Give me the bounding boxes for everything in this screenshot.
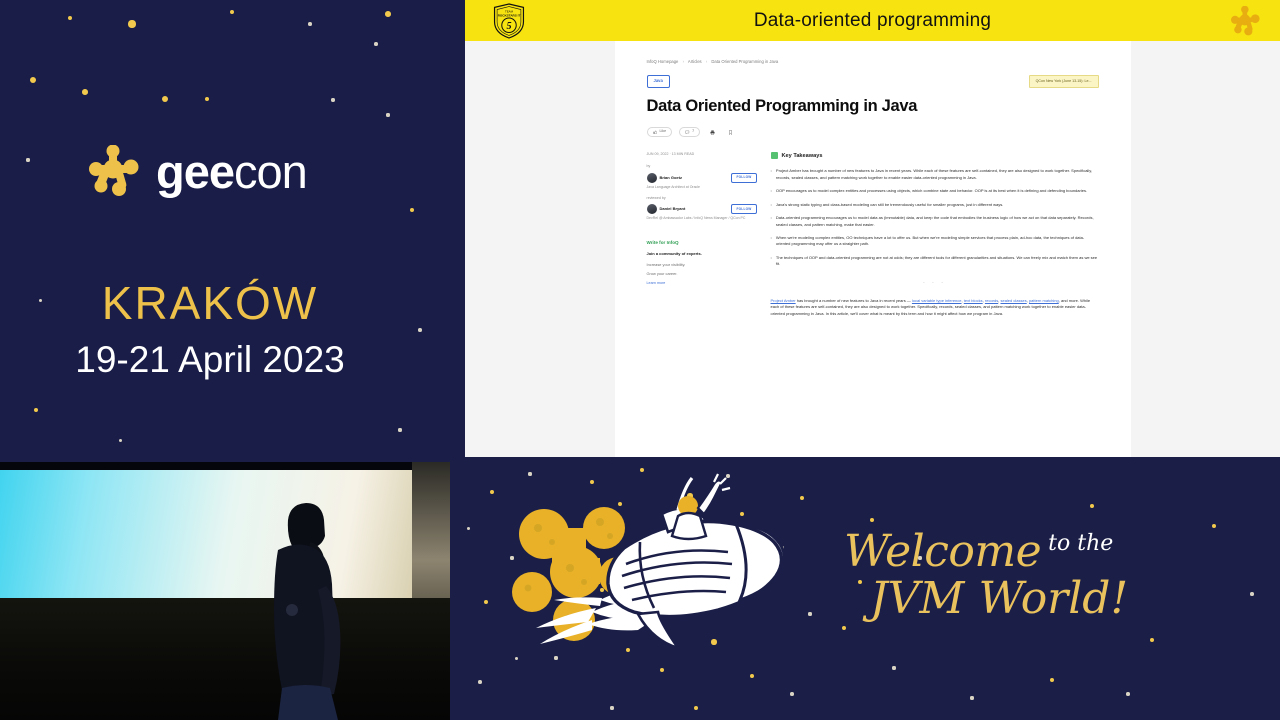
star-dot <box>870 518 874 522</box>
byline-label: by <box>647 164 757 170</box>
article-sidebar: JUN 09, 2022 · 13 MIN READ by Brian Goet… <box>647 152 757 318</box>
lede-text: has brought a number of new features to … <box>796 298 912 303</box>
geecon-molecule-icon <box>1230 6 1262 36</box>
geecon-molecule-icon <box>88 145 142 197</box>
event-dates: 19-21 April 2023 <box>0 338 420 382</box>
breadcrumb-item-current: Data Oriented Programming in Java <box>711 59 778 64</box>
key-takeaways-title: Key Takeaways <box>782 152 823 161</box>
broadcast-layout: geecon KRAKÓW 19-21 April 2023 TEAM ROCK… <box>0 0 1280 720</box>
welcome-line-1: Welcometo the <box>844 530 1134 575</box>
star-dot <box>398 428 401 431</box>
star-dot <box>410 208 414 212</box>
star-dot <box>1212 524 1216 528</box>
jvm-world-word: JVM World! <box>870 577 1128 622</box>
star-dot <box>308 22 312 26</box>
lede-paragraph: Project Amber has brought a number of ne… <box>771 298 1099 318</box>
geecon-logo-lockup: geecon <box>88 145 307 197</box>
follow-button[interactable]: FOLLOW <box>731 204 756 214</box>
breadcrumb-item-articles[interactable]: Articles <box>688 59 702 64</box>
bullet-icon: • <box>771 215 772 228</box>
star-dot <box>694 706 698 710</box>
star-dot <box>418 328 422 332</box>
star-dot <box>1126 692 1130 696</box>
write-for-infoq-heading: Write for InfoQ <box>647 239 757 246</box>
star-dot <box>82 89 88 95</box>
article-action-bar: Like 7 <box>647 127 1099 138</box>
inline-link[interactable]: sealed classes <box>1000 298 1026 303</box>
comment-button[interactable]: 7 <box>679 127 700 137</box>
star-dot <box>205 97 209 101</box>
rocket-with-rider-icon <box>492 472 822 687</box>
author-row[interactable]: Brian Goetz FOLLOW <box>647 173 757 183</box>
article-main-column: Key Takeaways •Project Amber has brought… <box>771 152 1099 318</box>
print-button[interactable] <box>707 127 718 138</box>
welcome-line-2: JVM World! <box>844 575 1134 622</box>
star-dot <box>30 77 37 84</box>
bullet-icon: • <box>771 235 772 248</box>
print-icon <box>710 130 715 135</box>
inline-link[interactable]: text blocks <box>964 298 983 303</box>
star-dot <box>892 666 895 669</box>
badge-mid-text: ROCKSTARS IT <box>498 14 521 18</box>
welcome-message: Welcometo the JVM World! <box>844 530 1134 622</box>
bullet-icon: • <box>771 168 772 181</box>
inline-link[interactable]: local variable type inference <box>912 298 962 303</box>
city-name: KRAKÓW <box>0 280 420 326</box>
avatar <box>647 173 657 183</box>
reviewed-label: reviewed by <box>647 196 757 202</box>
article-body: JUN 09, 2022 · 13 MIN READ by Brian Goet… <box>647 152 1099 318</box>
write-for-infoq-line: Increase your visibility. <box>647 262 757 268</box>
comment-count: 7 <box>692 129 694 135</box>
browser-article-viewport[interactable]: InfoQ Homepage › Articles › Data Oriente… <box>465 41 1280 457</box>
star-dot <box>230 10 235 15</box>
write-for-infoq-lead: Join a community of experts. <box>647 251 757 257</box>
thumbs-up-icon <box>653 130 658 135</box>
like-label: Like <box>660 129 667 135</box>
star-dot <box>162 96 168 102</box>
star-dot <box>1090 504 1094 508</box>
to-the-word: to the <box>1048 533 1113 555</box>
star-dot <box>26 158 29 161</box>
publish-meta: JUN 09, 2022 · 13 MIN READ <box>647 152 757 158</box>
key-takeaway-text: The techniques of OOP and data-oriented … <box>776 255 1099 268</box>
star-dot <box>385 11 391 17</box>
star-dot <box>1150 638 1155 643</box>
key-takeaway-text: Java's strong static typing and class-ba… <box>776 202 1003 208</box>
breadcrumb-separator: › <box>683 59 684 64</box>
inline-link[interactable]: records <box>985 298 998 303</box>
author-title: Java Language Architect at Oracle <box>647 185 757 190</box>
star-dot <box>331 98 334 101</box>
section-divider: · · · <box>771 280 1099 288</box>
follow-button[interactable]: FOLLOW <box>731 173 756 183</box>
star-dot <box>790 692 794 696</box>
key-takeaways-header: Key Takeaways <box>771 152 1099 161</box>
author-row[interactable]: Daniel Bryant FOLLOW <box>647 204 757 214</box>
star-dot <box>484 600 488 604</box>
badge-top-text: TEAM <box>505 10 514 14</box>
welcome-word: Welcome <box>844 526 1041 577</box>
key-takeaway-item: •Project Amber has brought a number of n… <box>771 168 1099 181</box>
key-takeaway-item: •Java's strong static typing and class-b… <box>771 202 1099 208</box>
article-title: Data Oriented Programming in Java <box>647 97 1099 115</box>
svg-text:5: 5 <box>506 21 511 32</box>
wordmark-bold: gee <box>156 145 234 198</box>
star-dot <box>1050 678 1054 682</box>
star-dot <box>68 16 73 21</box>
key-takeaways-icon <box>771 152 778 159</box>
breadcrumb-item-home[interactable]: InfoQ Homepage <box>647 59 679 64</box>
star-dot <box>1250 592 1254 596</box>
star-dot <box>386 113 389 116</box>
slide-title: Data-oriented programming <box>754 10 991 32</box>
promo-banner[interactable]: QCon New York (June 13-15): Le... <box>1029 75 1099 89</box>
comment-icon <box>685 130 690 135</box>
bullet-icon: • <box>771 255 772 268</box>
breadcrumb-separator: › <box>706 59 707 64</box>
bookmark-button[interactable] <box>725 127 736 138</box>
star-dot <box>842 626 847 631</box>
inline-link[interactable]: Project Amber <box>771 298 796 303</box>
like-button[interactable]: Like <box>647 127 673 137</box>
wordmark-light: con <box>234 145 307 198</box>
rocket-artwork-panel: Welcometo the JVM World! <box>452 462 1280 720</box>
bullet-icon: • <box>771 188 772 194</box>
write-for-infoq-block: Write for InfoQ Join a community of expe… <box>647 239 757 286</box>
key-takeaway-item: •OOP encourages us to model complex enti… <box>771 188 1099 194</box>
topic-tag[interactable]: Java <box>647 75 670 88</box>
star-dot <box>119 439 122 442</box>
author-name[interactable]: Daniel Bryant <box>660 206 729 212</box>
key-takeaway-text: When we're modeling complex entities, OO… <box>776 235 1099 248</box>
key-takeaway-text: Project Amber has brought a number of ne… <box>776 168 1099 181</box>
star-dot <box>610 706 613 709</box>
key-takeaway-item: •The techniques of OOP and data-oriented… <box>771 255 1099 268</box>
presentation-slide-panel: TEAM ROCKSTARS IT 5 Data-oriented progra… <box>465 0 1280 457</box>
speaker-figure <box>248 490 358 720</box>
avatar <box>647 204 657 214</box>
star-dot <box>970 696 973 699</box>
speaker-camera-panel <box>0 462 450 720</box>
star-dot <box>478 680 482 684</box>
write-for-infoq-line: Grow your career. <box>647 271 757 277</box>
key-takeaways-list: •Project Amber has brought a number of n… <box>771 168 1099 268</box>
team-rockstars-it-shield-icon: TEAM ROCKSTARS IT 5 <box>492 3 526 39</box>
star-dot <box>128 20 135 27</box>
tag-and-promo-row: Java QCon New York (June 13-15): Le... <box>647 75 1099 89</box>
key-takeaway-item: •Data-oriented programming encourages us… <box>771 215 1099 228</box>
author-title: DevRel @ Ambassador Labs / InfoQ News Ma… <box>647 216 757 221</box>
infoq-article-page: InfoQ Homepage › Articles › Data Oriente… <box>615 41 1131 457</box>
key-takeaway-item: •When we're modeling complex entities, O… <box>771 235 1099 248</box>
bullet-icon: • <box>771 202 772 208</box>
key-takeaway-text: OOP encourages us to model complex entit… <box>776 188 1087 194</box>
bookmark-icon <box>728 130 733 135</box>
breadcrumb[interactable]: InfoQ Homepage › Articles › Data Oriente… <box>647 59 1099 66</box>
inline-link[interactable]: pattern matching <box>1029 298 1059 303</box>
key-takeaway-text: Data-oriented programming encourages us … <box>776 215 1099 228</box>
geecon-wordmark: geecon <box>156 148 307 195</box>
slide-title-banner: TEAM ROCKSTARS IT 5 Data-oriented progra… <box>465 0 1280 41</box>
star-dot <box>34 408 38 412</box>
author-name[interactable]: Brian Goetz <box>660 175 729 181</box>
star-dot <box>467 527 470 530</box>
star-dot <box>374 42 378 46</box>
stage-floor <box>0 598 450 720</box>
conference-brand-panel: geecon KRAKÓW 19-21 April 2023 <box>0 0 460 460</box>
learn-more-link[interactable]: Learn more <box>647 281 757 287</box>
